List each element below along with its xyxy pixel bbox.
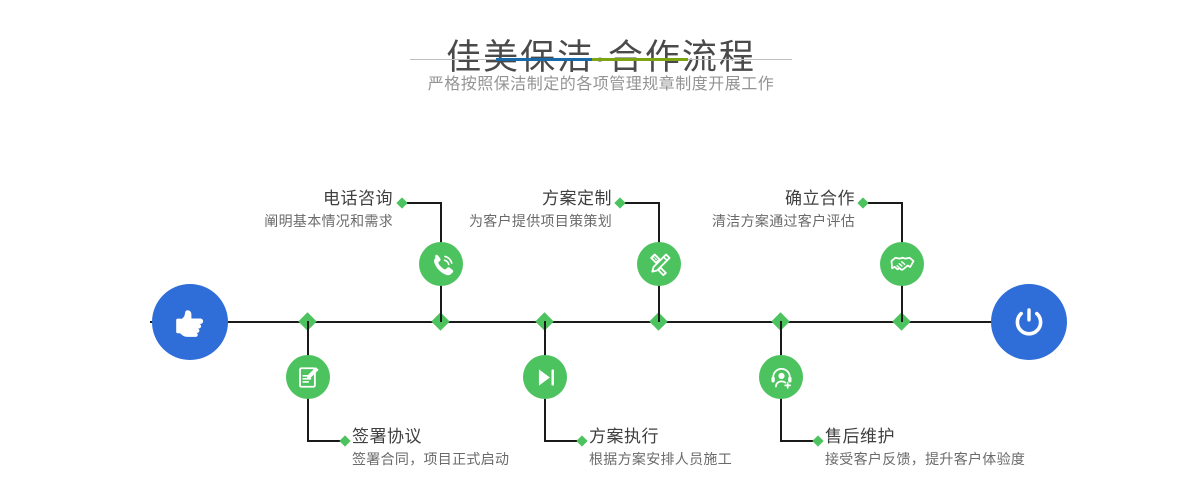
step-desc-5: 清洁方案通过客户评估: [600, 210, 855, 232]
step-desc-3: 为客户提供项目策策划: [350, 210, 612, 232]
step-title-3: 方案定制: [350, 188, 612, 210]
step-icon-badge-1[interactable]: [419, 242, 463, 286]
step-title-5: 确立合作: [600, 188, 855, 210]
step-label-5: 确立合作 清洁方案通过客户评估: [600, 188, 855, 232]
step-icon-badge-6[interactable]: [759, 355, 803, 399]
connector-horizontal-5: [865, 202, 903, 204]
step-label-6: 售后维护 接受客户反馈，提升客户体验度: [825, 426, 1125, 470]
handshake-icon: [889, 251, 916, 278]
timeline-start-node[interactable]: [152, 284, 228, 360]
timeline-axis: [150, 321, 1054, 323]
process-flow-infographic: 佳美保洁·合作流程 严格按照保洁制定的各项管理规章制度开展工作: [0, 0, 1202, 502]
label-marker-5: [857, 197, 868, 208]
phone-call-icon: [428, 251, 455, 278]
divider-segment-blue: [496, 58, 592, 61]
title-divider: [410, 58, 792, 61]
step-label-3: 方案定制 为客户提供项目策策划: [350, 188, 612, 232]
customer-service-icon: [768, 364, 795, 391]
play-step-icon: [532, 364, 559, 391]
power-icon: [1008, 301, 1050, 343]
document-edit-icon: [295, 364, 322, 391]
timeline-end-node[interactable]: [991, 284, 1067, 360]
divider-segment-green: [592, 58, 688, 61]
step-title-6: 售后维护: [825, 426, 1125, 448]
step-icon-badge-4[interactable]: [523, 355, 567, 399]
pencil-ruler-icon: [646, 251, 673, 278]
step-desc-6: 接受客户反馈，提升客户体验度: [825, 448, 1125, 470]
page-subtitle: 严格按照保洁制定的各项管理规章制度开展工作: [0, 73, 1202, 97]
step-icon-badge-5[interactable]: [880, 242, 924, 286]
label-marker-2: [339, 435, 350, 446]
step-icon-badge-3[interactable]: [637, 242, 681, 286]
step-icon-badge-2[interactable]: [286, 355, 330, 399]
pointing-hand-icon: [169, 301, 211, 343]
